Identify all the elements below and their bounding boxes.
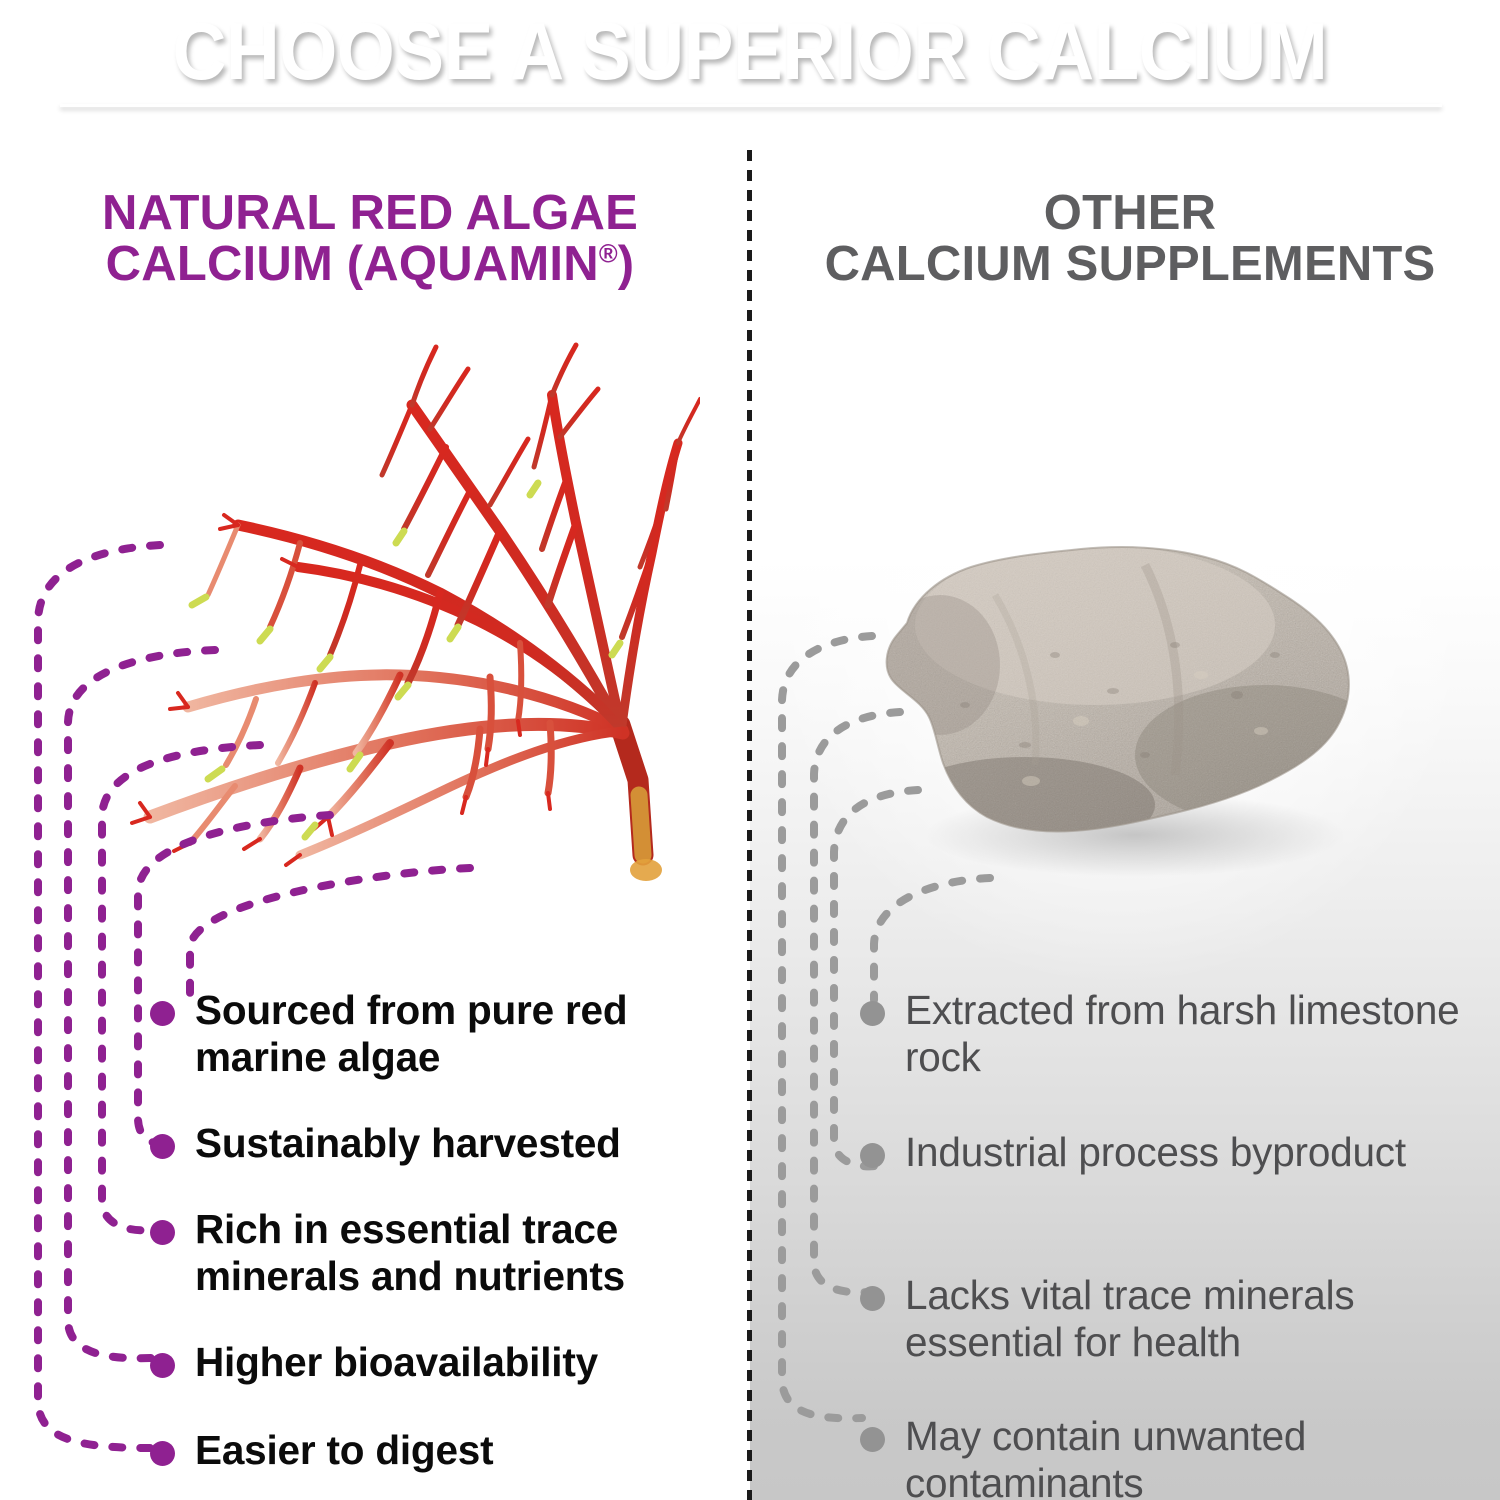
list-item: Sourced from pure red marine algae xyxy=(150,987,750,1081)
list-item-label: Extracted from harsh limestone rock xyxy=(905,987,1460,1081)
list-item-label: Sustainably harvested xyxy=(195,1120,621,1167)
bullet-dot-icon xyxy=(150,1353,175,1378)
bullet-dot-icon xyxy=(150,1441,175,1466)
connector-right-4 xyxy=(782,636,872,1418)
list-item: Easier to digest xyxy=(150,1427,750,1474)
list-item-label: May contain unwanted contaminants xyxy=(905,1413,1460,1500)
bullet-dot-icon xyxy=(860,1143,885,1168)
bullet-dot-icon xyxy=(860,1427,885,1452)
list-item: Sustainably harvested xyxy=(150,1120,750,1167)
connector-left-2 xyxy=(138,815,330,1142)
list-item-label: Industrial process byproduct xyxy=(905,1129,1406,1176)
list-item: Higher bioavailability xyxy=(150,1339,750,1386)
bullet-dot-icon xyxy=(860,1001,885,1026)
list-item: Extracted from harsh limestone rock xyxy=(860,987,1460,1081)
bullet-dot-icon xyxy=(150,1001,175,1026)
list-item: Rich in essential trace minerals and nut… xyxy=(150,1206,750,1300)
list-item-label: Easier to digest xyxy=(195,1427,493,1474)
connector-right-1 xyxy=(874,878,990,1000)
list-item: May contain unwanted contaminants xyxy=(860,1413,1460,1500)
bullet-dot-icon xyxy=(860,1286,885,1311)
infographic-page: CHOOSE A SUPERIOR CALCIUM NATURAL RED AL… xyxy=(0,0,1500,1500)
list-item-label: Higher bioavailability xyxy=(195,1339,598,1386)
list-item-label: Sourced from pure red marine algae xyxy=(195,987,750,1081)
list-item: Industrial process byproduct xyxy=(860,1129,1460,1176)
bullet-dot-icon xyxy=(150,1134,175,1159)
list-item-label: Lacks vital trace minerals essential for… xyxy=(905,1272,1480,1366)
list-item: Lacks vital trace minerals essential for… xyxy=(860,1272,1480,1366)
list-item-label: Rich in essential trace minerals and nut… xyxy=(195,1206,750,1300)
connector-left-1 xyxy=(190,868,470,996)
bullet-dot-icon xyxy=(150,1220,175,1245)
